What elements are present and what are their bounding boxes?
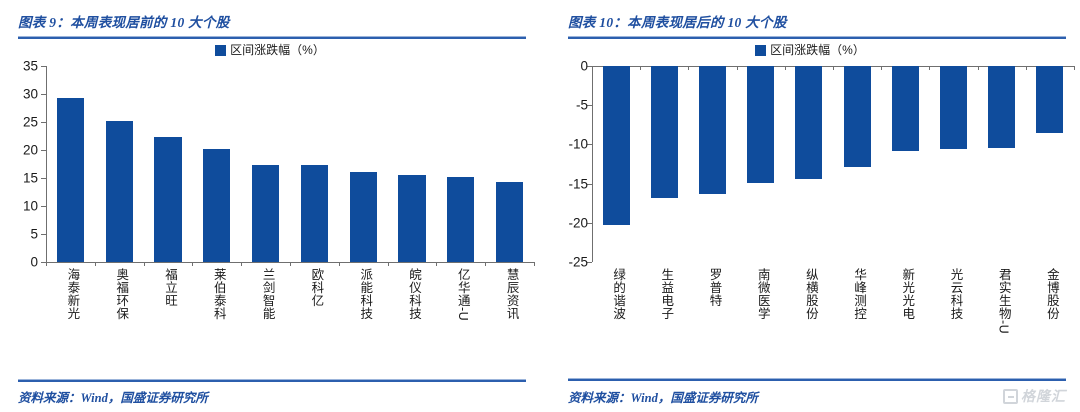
x-axis-tick xyxy=(978,66,979,70)
bar[interactable] xyxy=(154,137,181,262)
figure-pair-page: 图表 9：本周表现居前的 10 大个股 区间涨跌幅（%） 05101520253… xyxy=(0,0,1080,412)
y-axis-tick xyxy=(41,150,46,151)
bar[interactable] xyxy=(496,182,523,262)
x-axis-category-label: 华峰测控 xyxy=(850,268,869,320)
bar[interactable] xyxy=(844,66,871,167)
x-axis-category-label: 兰剑智能 xyxy=(259,268,278,320)
bar[interactable] xyxy=(795,66,822,179)
legend-swatch-icon xyxy=(215,45,226,56)
page-title-left: 图表 9：本周表现居前的 10 大个股 xyxy=(18,0,526,31)
y-axis-tick-label: -15 xyxy=(548,176,588,191)
y-axis-tick-label: -5 xyxy=(548,98,588,113)
title-divider-right xyxy=(568,36,1066,39)
bar[interactable] xyxy=(398,175,425,262)
x-axis-tick xyxy=(485,262,486,266)
x-axis-category-label: 皖仪科技 xyxy=(405,268,424,320)
x-axis-category-label: 莱伯泰科 xyxy=(210,268,229,320)
x-axis-category-label: 金博股份 xyxy=(1043,268,1062,320)
x-axis-tick xyxy=(833,66,834,70)
bar[interactable] xyxy=(447,177,474,262)
y-axis-tick xyxy=(41,122,46,123)
x-axis-tick xyxy=(388,262,389,266)
bar[interactable] xyxy=(350,172,377,262)
bar[interactable] xyxy=(988,66,1015,148)
bar[interactable] xyxy=(603,66,630,225)
y-axis-tick-label: -10 xyxy=(548,137,588,152)
title-divider-left xyxy=(18,36,526,39)
x-axis-category-label: 罗普特 xyxy=(706,268,725,307)
x-axis-tick xyxy=(241,262,242,266)
x-axis-category-label: 慧辰资讯 xyxy=(503,268,522,320)
x-axis-tick xyxy=(785,66,786,70)
bar[interactable] xyxy=(252,165,279,262)
x-axis-category-label: 南微医学 xyxy=(754,268,773,320)
source-note-row-right: 资料来源：Wind，国盛证券研究所 格隆汇 xyxy=(568,381,1066,406)
x-axis-tick xyxy=(640,66,641,70)
logo-icon xyxy=(1003,389,1018,404)
legend-label: 区间涨跌幅（%） xyxy=(230,44,325,56)
x-axis-category-label: 绿的谐波 xyxy=(609,268,628,320)
chart-top-performers: 区间涨跌幅（%） 05101520253035海泰新光奥福环保福立旺莱伯泰科兰剑… xyxy=(0,40,540,370)
source-note-right: 资料来源：Wind，国盛证券研究所 xyxy=(568,387,758,406)
x-axis-category-label: 君实生物-U xyxy=(995,268,1014,334)
bar[interactable] xyxy=(940,66,967,149)
x-axis-tick xyxy=(1026,66,1027,70)
y-axis-tick xyxy=(41,206,46,207)
y-axis-tick-label: 0 xyxy=(2,255,38,270)
y-axis-tick-label: 35 xyxy=(2,59,38,74)
chart-bottom-performers: 区间涨跌幅（%） 0-5-10-15-20-25绿的谐波生益电子罗普特南微医学纵… xyxy=(540,40,1080,370)
x-axis-category-label: 生益电子 xyxy=(657,268,676,320)
x-axis-tick xyxy=(881,66,882,70)
chart-legend-right: 区间涨跌幅（%） xyxy=(540,40,1080,60)
plot-area-left: 05101520253035海泰新光奥福环保福立旺莱伯泰科兰剑智能欧科亿派能科技… xyxy=(0,62,540,370)
x-axis-category-label: 新光光电 xyxy=(898,268,917,320)
bar[interactable] xyxy=(106,121,133,262)
y-axis-tick-label: -25 xyxy=(548,255,588,270)
source-note-left: 资料来源：Wind，国盛证券研究所 xyxy=(18,387,208,406)
x-axis-category-label: 奥福环保 xyxy=(112,268,131,320)
x-axis-category-label: 派能科技 xyxy=(356,268,375,320)
bar[interactable] xyxy=(1036,66,1063,133)
y-axis-tick-label: 10 xyxy=(2,199,38,214)
y-axis-tick-label: -20 xyxy=(548,215,588,230)
x-axis-category-label: 纵横股份 xyxy=(802,268,821,320)
bar[interactable] xyxy=(651,66,678,198)
y-axis-line xyxy=(46,66,47,262)
x-axis-category-label: 欧科亿 xyxy=(307,268,326,307)
x-axis-tick xyxy=(1074,66,1075,70)
x-axis-tick xyxy=(436,262,437,266)
x-axis-category-label: 亿华通-U xyxy=(454,268,473,321)
footer-left: 资料来源：Wind，国盛证券研究所 xyxy=(0,379,540,406)
x-axis-tick xyxy=(534,262,535,266)
x-axis-tick xyxy=(192,262,193,266)
figure-panel-left: 图表 9：本周表现居前的 10 大个股 区间涨跌幅（%） 05101520253… xyxy=(0,0,540,412)
y-axis-tick-label: 25 xyxy=(2,115,38,130)
x-axis-tick xyxy=(46,262,47,266)
legend-label: 区间涨跌幅（%） xyxy=(770,44,865,56)
y-axis-tick xyxy=(41,234,46,235)
x-axis-category-label: 光云科技 xyxy=(947,268,966,320)
y-axis-tick xyxy=(41,178,46,179)
watermark-text: 格隆汇 xyxy=(1021,386,1066,406)
x-axis-tick xyxy=(95,262,96,266)
chart-legend-left: 区间涨跌幅（%） xyxy=(0,40,540,60)
source-note-row-left: 资料来源：Wind，国盛证券研究所 xyxy=(18,382,526,406)
x-axis-tick xyxy=(339,262,340,266)
y-axis-tick xyxy=(41,66,46,67)
y-axis-tick-label: 5 xyxy=(2,227,38,242)
watermark: 格隆汇 xyxy=(1003,386,1066,406)
y-axis-line xyxy=(592,66,593,262)
y-axis-tick-label: 20 xyxy=(2,143,38,158)
x-axis-tick xyxy=(929,66,930,70)
legend-swatch-icon xyxy=(755,45,766,56)
x-axis-tick xyxy=(144,262,145,266)
footer-right: 资料来源：Wind，国盛证券研究所 格隆汇 xyxy=(540,378,1080,406)
y-axis-tick-label: 30 xyxy=(2,87,38,102)
plot-area-right: 0-5-10-15-20-25绿的谐波生益电子罗普特南微医学纵横股份华峰测控新光… xyxy=(540,62,1080,370)
bar[interactable] xyxy=(301,165,328,262)
x-axis-category-label: 福立旺 xyxy=(161,268,180,307)
x-axis-tick xyxy=(592,66,593,70)
x-axis-tick xyxy=(688,66,689,70)
x-axis-tick xyxy=(290,262,291,266)
bar[interactable] xyxy=(57,98,84,262)
bar[interactable] xyxy=(747,66,774,183)
x-axis-category-label: 海泰新光 xyxy=(63,268,82,320)
y-axis-tick-label: 15 xyxy=(2,171,38,186)
y-axis-tick-label: 0 xyxy=(548,59,588,74)
bar[interactable] xyxy=(892,66,919,151)
bar[interactable] xyxy=(699,66,726,194)
figure-panel-right: 图表 10：本周表现居后的 10 大个股 区间涨跌幅（%） 0-5-10-15-… xyxy=(540,0,1080,412)
x-axis-tick xyxy=(737,66,738,70)
page-title-right: 图表 10：本周表现居后的 10 大个股 xyxy=(568,0,1066,31)
bar[interactable] xyxy=(203,149,230,262)
y-axis-tick xyxy=(41,94,46,95)
